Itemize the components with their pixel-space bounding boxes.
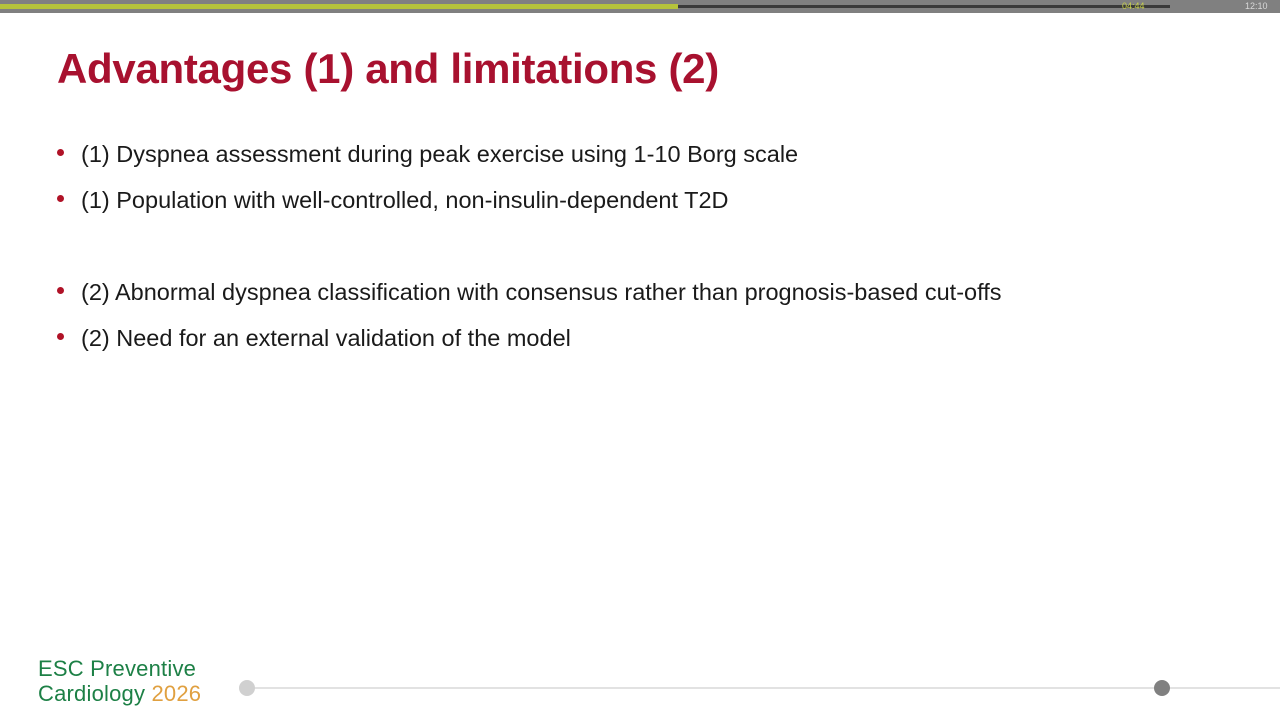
- elapsed-time-label: 04:44: [1122, 0, 1145, 13]
- list-item: (2) Need for an external validation of t…: [57, 321, 1247, 355]
- timeline-handle-start[interactable]: [239, 680, 255, 696]
- bullet-group-limitations: (2) Abnormal dyspnea classification with…: [57, 275, 1247, 367]
- bullet-dot-icon: [57, 333, 64, 340]
- progress-elapsed-track[interactable]: [0, 4, 678, 9]
- timeline-track[interactable]: [247, 687, 1280, 689]
- total-time-label: 12:10: [1245, 0, 1268, 13]
- list-item-text: (1) Dyspnea assessment during peak exerc…: [81, 137, 798, 171]
- timeline-handle-current[interactable]: [1154, 680, 1170, 696]
- slide-timeline-scrubber[interactable]: [0, 673, 1280, 703]
- list-item-text: (2) Abnormal dyspnea classification with…: [81, 275, 1001, 309]
- bullet-group-advantages: (1) Dyspnea assessment during peak exerc…: [57, 137, 1247, 229]
- bullet-dot-icon: [57, 149, 64, 156]
- bullet-dot-icon: [57, 195, 64, 202]
- list-item: (1) Population with well-controlled, non…: [57, 183, 1247, 217]
- list-item: (2) Abnormal dyspnea classification with…: [57, 275, 1247, 309]
- video-player-progress-bar[interactable]: 04:44 12:10: [0, 0, 1280, 13]
- progress-remaining-track[interactable]: [678, 5, 1170, 8]
- list-item-text: (1) Population with well-controlled, non…: [81, 183, 729, 217]
- presentation-slide: Advantages (1) and limitations (2) (1) D…: [0, 13, 1280, 720]
- list-item-text: (2) Need for an external validation of t…: [81, 321, 571, 355]
- bullet-dot-icon: [57, 287, 64, 294]
- list-item: (1) Dyspnea assessment during peak exerc…: [57, 137, 1247, 171]
- page-title: Advantages (1) and limitations (2): [57, 45, 719, 93]
